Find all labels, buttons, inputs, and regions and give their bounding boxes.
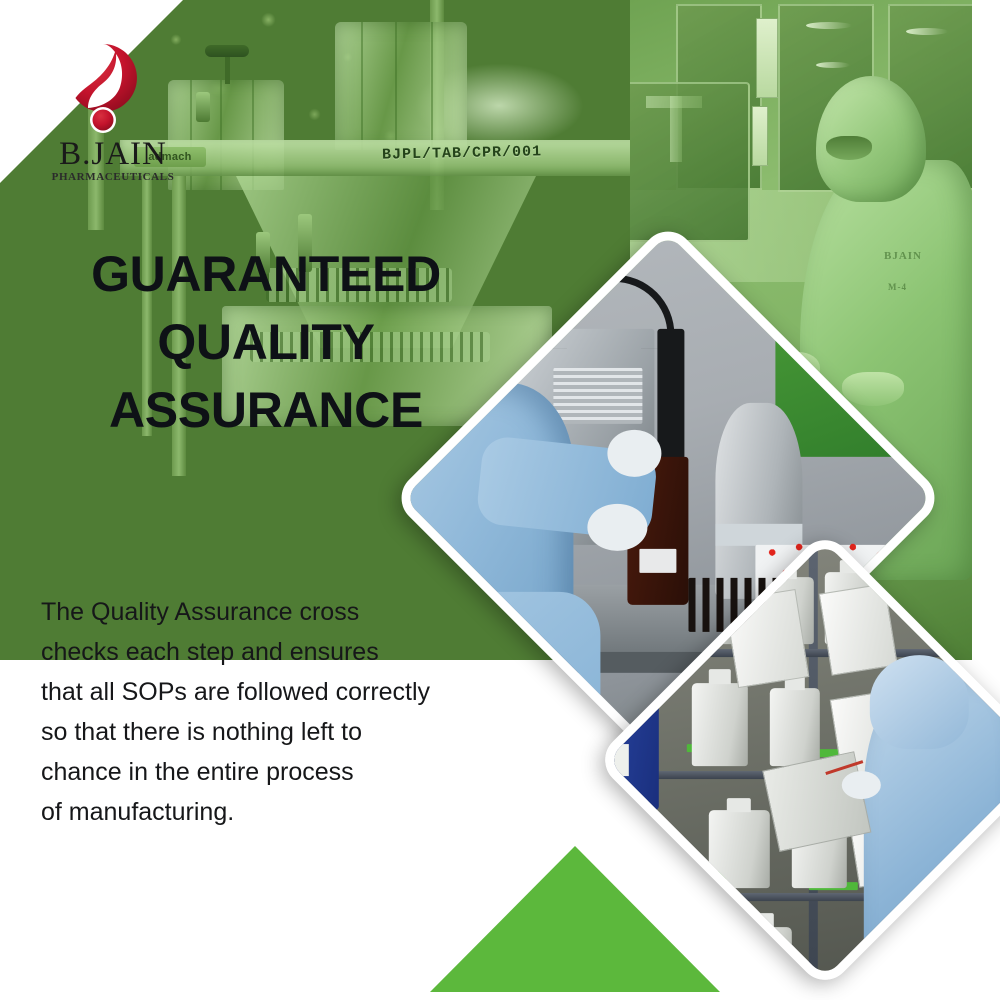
brand-tagline: PHARMACEUTICALS [38,172,188,183]
photo2-operator-hood [869,655,969,749]
body-paragraph: The Quality Assurance cross checks each … [41,592,511,832]
photo2-container-5 [770,688,820,766]
hopper-left-valve [196,92,210,122]
poster-canvas: admach BJPL/TAB/CPR/001 [0,0,1000,1000]
photo2-container-8 [731,926,792,990]
equipment-rail-2 [670,96,682,162]
machine-code-label: BJPL/TAB/CPR/001 [382,143,542,163]
photo2-container-6 [709,810,770,888]
photo2-drum-label [594,744,628,776]
headline-line-2: QUALITY ASSURANCE [26,308,506,444]
green-triangle-accent [430,846,720,992]
wall-document-chart-2 [752,106,768,166]
body-line-2: checks each step and ensures [41,632,511,672]
hopper-left-knob [205,45,249,57]
uniform-size-label: M-4 [888,282,907,292]
photo2-document-5 [920,877,997,959]
photo1-machine-vent [554,368,643,424]
body-line-4: so that there is nothing left to [41,712,511,752]
cleanroom-worker-glove-right [842,372,904,406]
uniform-embroidery-label: BJAIN [884,250,922,262]
headline-line-1: GUARANTEED [26,240,506,308]
brand-logo: B.JAIN PHARMACEUTICALS [38,42,188,192]
wall-document-chart [756,18,778,98]
page-title: GUARANTEED QUALITY ASSURANCE [26,240,506,444]
photo2-shelf-3 [614,893,1000,901]
photo2-operator-hand [842,771,881,799]
body-line-1: The Quality Assurance cross [41,592,511,632]
hopper-right [335,22,467,150]
ceiling-light-glare-3 [816,62,850,68]
machine-crossbeam: admach BJPL/TAB/CPR/001 [120,140,640,176]
cleanroom-worker-visor [826,136,872,160]
body-line-3: that all SOPs are followed correctly [41,672,511,712]
photo2-white-box [594,804,647,854]
ceiling-light-glare-2 [906,28,948,35]
photo2-document-2 [819,583,898,676]
body-line-6: of manufacturing. [41,792,511,832]
photo2-container-4 [692,682,747,765]
photo1-table-leg [574,686,578,775]
body-line-5: chance in the entire process [41,752,511,792]
ceiling-light-glare-1 [806,22,852,29]
photo1-nozzle [658,330,685,478]
brand-name: B.JAIN [38,138,188,171]
bjain-flame-circle-icon [58,42,148,134]
